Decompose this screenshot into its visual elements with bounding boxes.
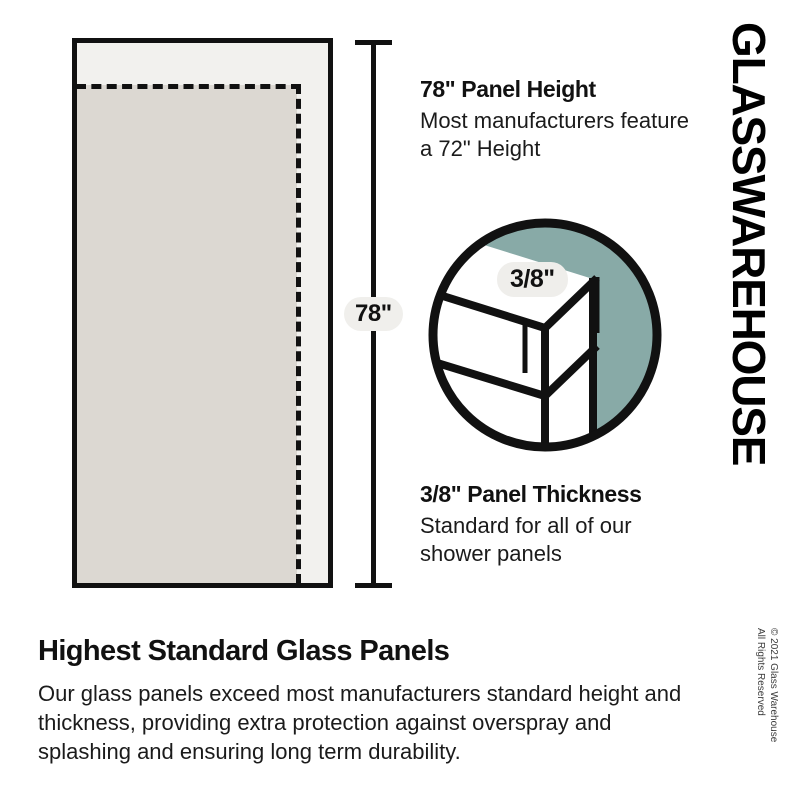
thickness-measurement-label: 3/8"	[497, 262, 568, 297]
panel-dashed-right-edge	[296, 84, 301, 584]
infographic-canvas: 78" 78" Panel Height Most manufacturers …	[0, 0, 800, 800]
legal-notice: © 2021 Glass Warehouse All Rights Reserv…	[746, 628, 780, 778]
callout-panel-height-title: 78" Panel Height	[420, 76, 695, 104]
panel-thickness-illustration: 3/8"	[425, 215, 665, 455]
glass-edge-diagram-svg	[425, 215, 665, 455]
callout-panel-thickness: 3/8" Panel Thickness Standard for all of…	[420, 481, 695, 568]
legal-notice-line-2: All Rights Reserved	[754, 628, 767, 778]
glass-panel-diagram	[72, 38, 333, 588]
panel-inner-fill	[77, 85, 297, 583]
height-dimension-label: 78"	[344, 297, 403, 331]
dimension-cap-bottom	[355, 583, 392, 588]
callout-panel-height-body: Most manufacturers feature a 72" Height	[420, 107, 695, 163]
panel-dashed-top-edge	[76, 84, 301, 89]
callout-panel-thickness-title: 3/8" Panel Thickness	[420, 481, 695, 509]
callout-panel-thickness-body: Standard for all of our shower panels	[420, 512, 695, 568]
callout-panel-height: 78" Panel Height Most manufacturers feat…	[420, 76, 695, 163]
summary-heading: Highest Standard Glass Panels	[38, 634, 708, 669]
legal-notice-line-1: © 2021 Glass Warehouse	[767, 628, 780, 778]
summary-paragraph: Our glass panels exceed most manufacture…	[38, 679, 708, 767]
brand-logo-text: GLASSWAREHOUSE	[718, 22, 780, 492]
summary-block: Highest Standard Glass Panels Our glass …	[38, 634, 708, 767]
